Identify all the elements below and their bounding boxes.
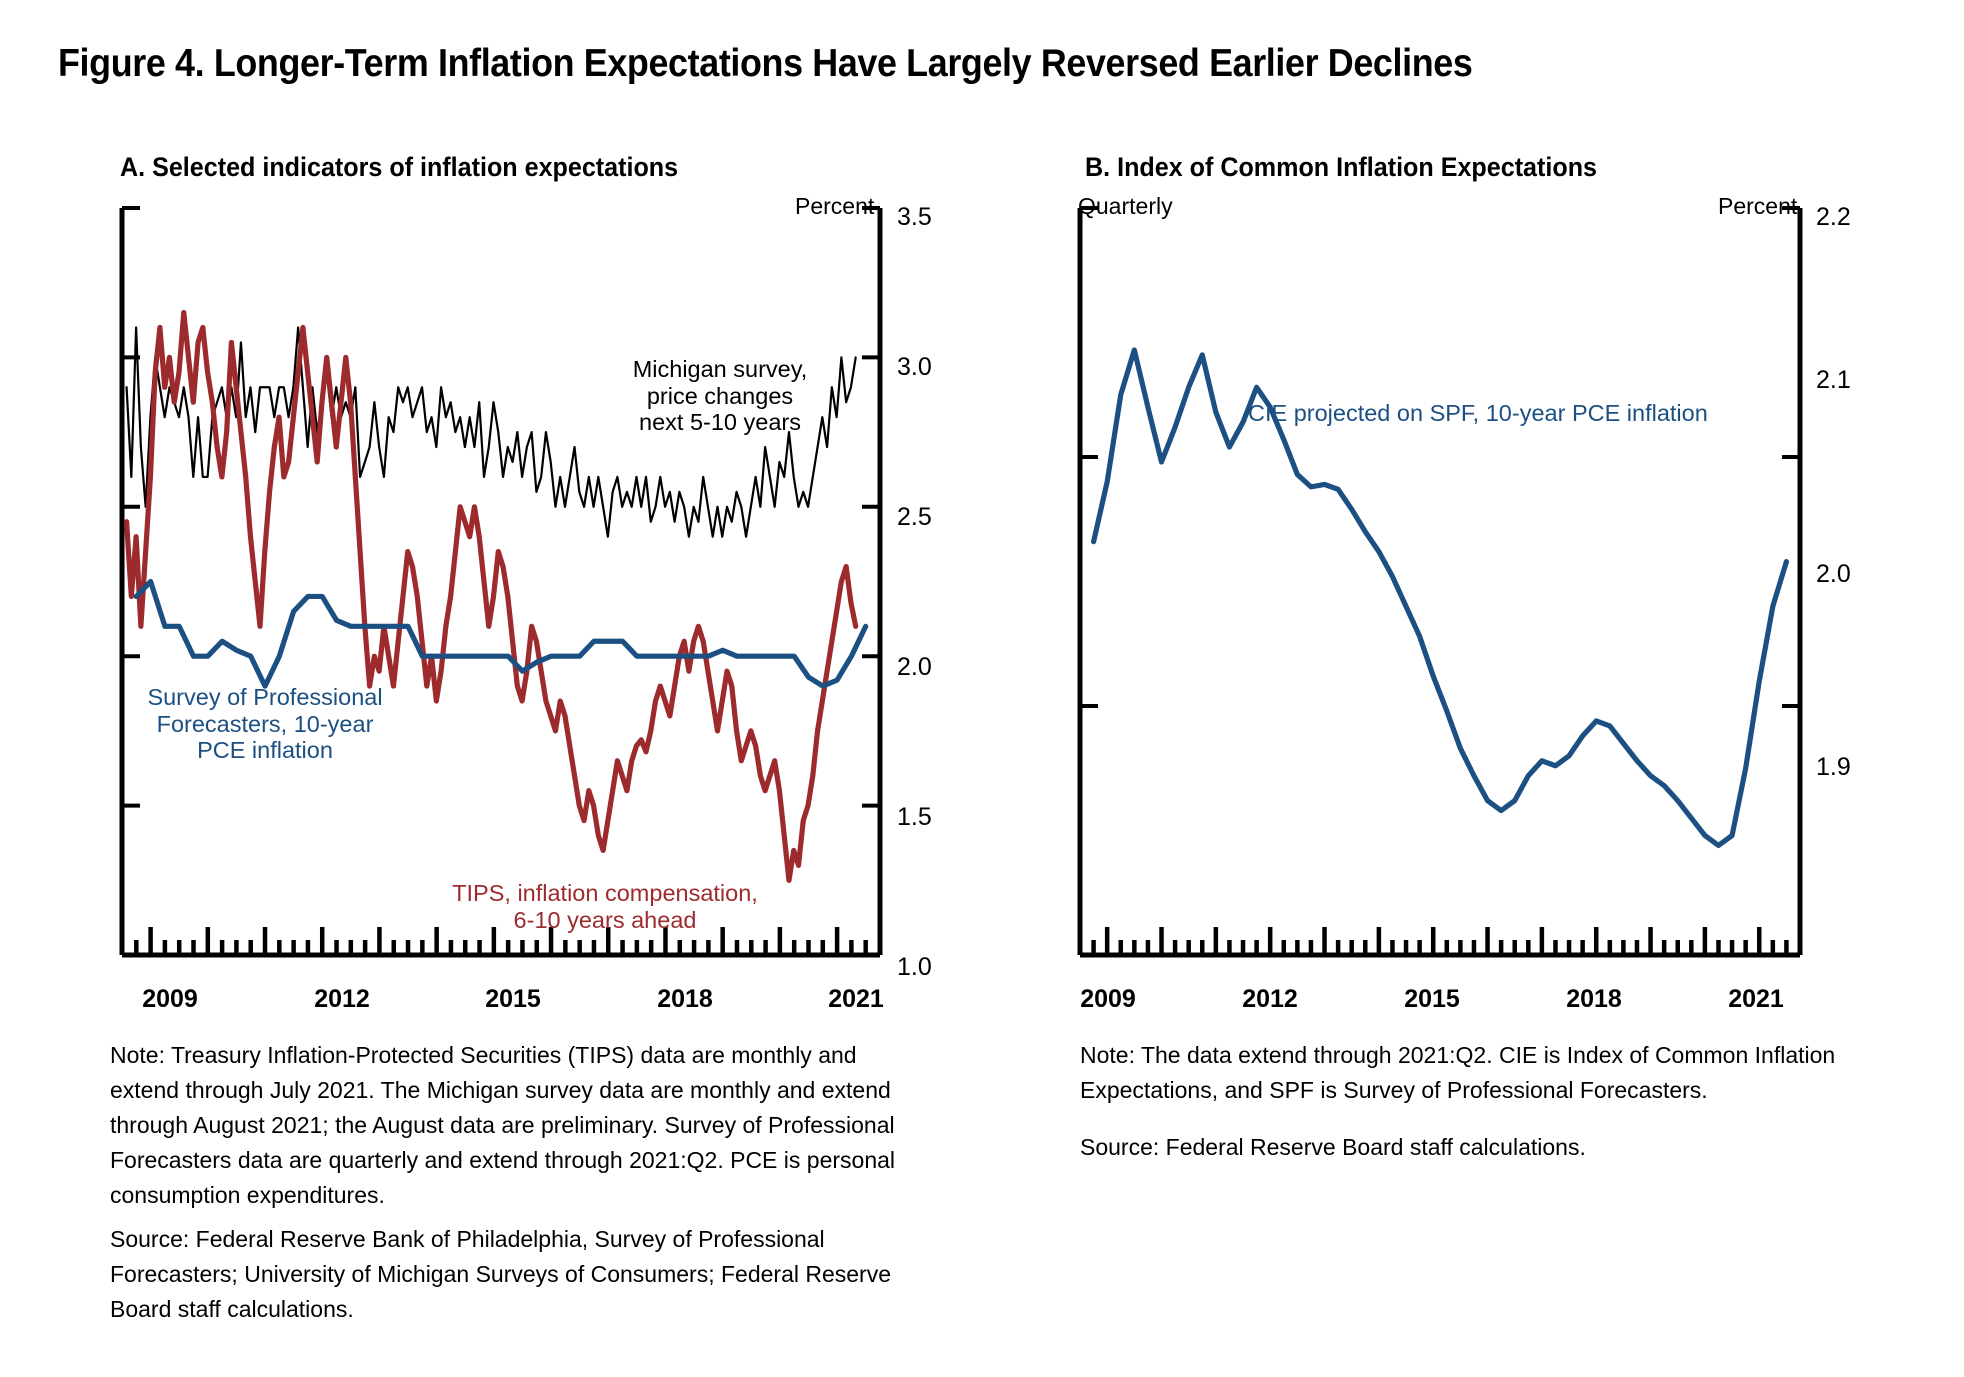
panel-a-ytick-2: 2.5 xyxy=(897,503,932,532)
panel-a-xtick-2: 2015 xyxy=(485,985,541,1014)
panel-a-note: Note: Treasury Inflation-Protected Secur… xyxy=(110,1038,920,1213)
panel-a-ytick-4: 1.5 xyxy=(897,803,932,832)
panel-b-ytick-1: 2.1 xyxy=(1816,366,1851,395)
panel-b-label-cie: CIE projected on SPF, 10-year PCE inflat… xyxy=(1248,400,1708,427)
panel-a-xtick-1: 2012 xyxy=(314,985,370,1014)
panel-a-label-tips: TIPS, inflation compensation, 6-10 years… xyxy=(440,880,770,933)
panel-b-note: Note: The data extend through 2021:Q2. C… xyxy=(1080,1038,1910,1108)
panel-b-ytick-0: 2.2 xyxy=(1816,203,1851,232)
panel-a: A. Selected indicators of inflation expe… xyxy=(0,0,1000,1377)
panel-b-xtick-3: 2018 xyxy=(1566,985,1622,1014)
panel-a-label-spf: Survey of Professional Forecasters, 10-y… xyxy=(140,684,390,764)
panel-a-xtick-4: 2021 xyxy=(828,985,884,1014)
panel-a-xtick-3: 2018 xyxy=(657,985,713,1014)
panel-a-source: Source: Federal Reserve Bank of Philadel… xyxy=(110,1222,920,1327)
panel-a-label-michigan: Michigan survey, price changes next 5-10… xyxy=(620,356,820,436)
panel-b-source: Source: Federal Reserve Board staff calc… xyxy=(1080,1130,1910,1165)
panel-b-ytick-2: 2.0 xyxy=(1816,560,1851,589)
panel-a-ytick-1: 3.0 xyxy=(897,353,932,382)
panel-b-xtick-1: 2012 xyxy=(1242,985,1298,1014)
panel-b-xtick-0: 2009 xyxy=(1080,985,1136,1014)
panel-a-xtick-0: 2009 xyxy=(142,985,198,1014)
panel-a-ytick-5: 1.0 xyxy=(897,953,932,982)
panel-b-xtick-2: 2015 xyxy=(1404,985,1460,1014)
panel-b-plot xyxy=(980,0,1964,1010)
panel-b-ytick-3: 1.9 xyxy=(1816,753,1851,782)
panel-a-ytick-3: 2.0 xyxy=(897,653,932,682)
panel-a-ytick-0: 3.5 xyxy=(897,203,932,232)
panel-b-xtick-4: 2021 xyxy=(1728,985,1784,1014)
panel-a-plot xyxy=(0,0,1000,1010)
panel-b: B. Index of Common Inflation Expectation… xyxy=(980,0,1964,1377)
